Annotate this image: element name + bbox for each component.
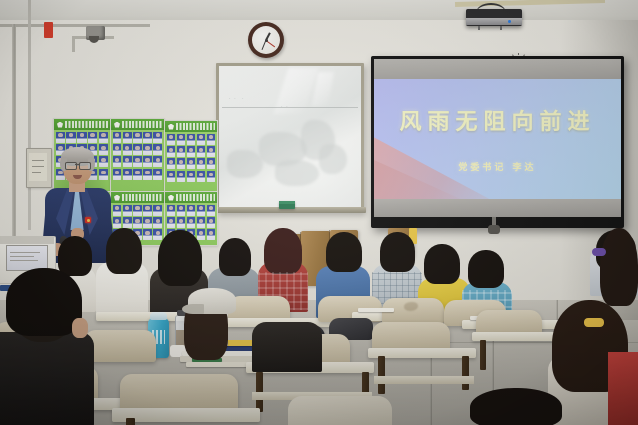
poster-panel — [110, 118, 165, 192]
poster-logo-icon — [114, 122, 120, 128]
poster-header — [111, 192, 164, 203]
poster-logo-icon — [168, 124, 174, 130]
student-hair — [470, 388, 562, 425]
red-wall-sign — [44, 22, 53, 38]
poster-logo-icon — [57, 122, 63, 128]
monitor-line — [10, 260, 38, 261]
poster-header-text — [176, 194, 215, 201]
desk-leg — [126, 418, 135, 425]
poster-header-text — [122, 121, 162, 128]
monitor-line — [10, 252, 40, 253]
camera-bracket — [72, 36, 75, 52]
panel-line — [32, 172, 41, 173]
projector-foot — [478, 26, 480, 30]
podium-top — [0, 236, 54, 244]
poster-header — [54, 119, 110, 130]
student-torso — [0, 332, 94, 425]
poster-header — [111, 119, 164, 130]
student-hair — [6, 268, 82, 336]
clock-center-pin — [265, 39, 268, 42]
poster-card-grid — [165, 132, 217, 191]
poster-card-grid — [111, 130, 164, 191]
poster-header-text — [65, 121, 108, 128]
student-torso — [608, 352, 638, 425]
classroom-photo: · · · · · 风雨无阻向前进 党委书记 李达 — [0, 0, 638, 425]
student-ear — [72, 318, 88, 338]
whiteboard-eraser-top — [279, 201, 295, 204]
desk-leg — [462, 356, 469, 390]
student-torso — [252, 322, 322, 372]
projector-band — [466, 18, 522, 25]
student-hair — [600, 228, 638, 306]
hair-tie — [592, 248, 606, 256]
ceiling-conduit — [0, 24, 150, 27]
student-hair — [219, 238, 251, 276]
poster-panel — [164, 120, 218, 192]
desk-shelf — [374, 376, 474, 384]
student-hair — [106, 228, 142, 274]
student-hair — [380, 232, 415, 272]
poster-logo-icon — [168, 195, 174, 201]
whiteboard-surface: · · · · · — [219, 66, 361, 207]
student-hair — [468, 250, 504, 288]
projector-led-icon — [508, 20, 511, 23]
poster-header-text — [122, 194, 162, 201]
screen-bottom-bezel — [374, 199, 621, 217]
cap-brim — [182, 304, 204, 314]
thermos-cap — [150, 312, 167, 320]
poster-header — [165, 192, 217, 203]
desk-backrest — [84, 330, 156, 362]
party-badge-center — [87, 219, 90, 222]
panel-line — [32, 160, 44, 161]
student-hair — [58, 236, 92, 276]
screen-top-bezel — [374, 59, 621, 79]
student-hair — [158, 230, 202, 286]
glasses-bridge — [75, 164, 79, 165]
poster-header — [165, 121, 217, 132]
student-hair — [424, 244, 460, 284]
paper — [358, 308, 394, 312]
whiteboard-erased-line — [222, 107, 358, 108]
wall-conduit — [28, 0, 31, 230]
projector-foot — [500, 26, 502, 30]
desk-leg — [480, 340, 486, 370]
slide-subtitle: 党委书记 李达 — [374, 160, 621, 173]
wall-panel-face — [29, 153, 47, 181]
desk-surface — [288, 396, 392, 425]
desk-leg — [378, 356, 385, 394]
monitor-line — [10, 256, 34, 257]
poster-logo-icon — [114, 195, 120, 201]
student-hair — [264, 228, 302, 274]
student-hair — [326, 232, 362, 272]
hair-tie — [584, 318, 604, 327]
screen-mount-knob — [488, 225, 500, 234]
panel-line — [32, 166, 44, 167]
slide-title: 风雨无阻向前进 — [374, 104, 621, 136]
glasses-icon — [79, 162, 91, 170]
slide-canvas — [374, 79, 621, 199]
poster-header-text — [176, 123, 215, 130]
